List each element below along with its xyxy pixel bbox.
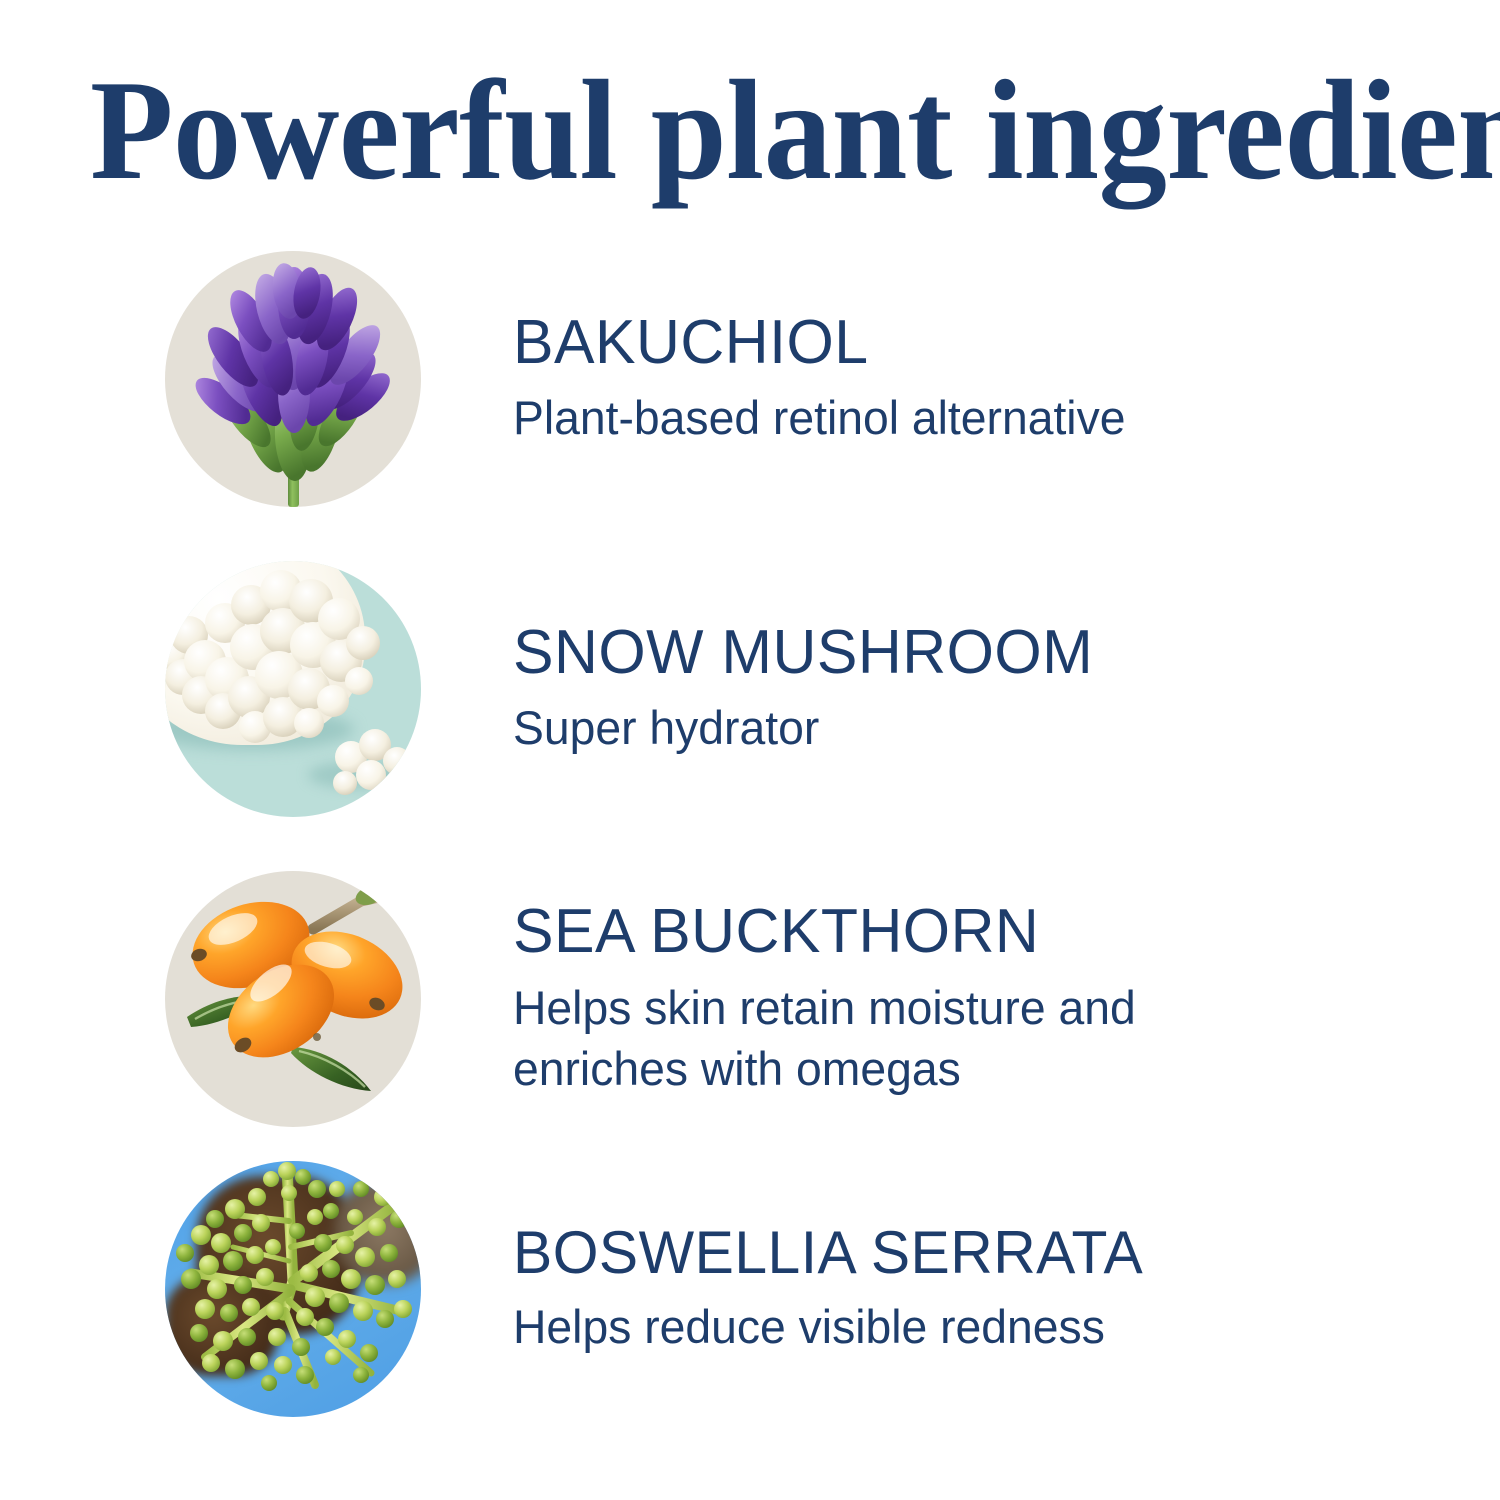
snow-mushroom-thumbnail [165, 561, 421, 817]
sea-buckthorn-text: SEA BUCKTHORN Helps skin retain moisture… [513, 899, 1500, 1099]
babchi-flower-image [165, 251, 421, 507]
ingredient-description: Plant-based retinol alternative [513, 387, 1291, 448]
mushroom-ruffles-svg [165, 561, 421, 817]
boswellia-buds-svg [165, 1161, 421, 1417]
ingredient-item-boswellia-serrata: BOSWELLIA SERRATA Helps reduce visible r… [0, 1158, 1500, 1420]
ingredient-item-snow-mushroom: SNOW MUSHROOM Super hydrator [0, 558, 1500, 820]
babchi-flower-svg [165, 251, 421, 507]
sea-buckthorn-image [165, 871, 421, 1127]
ingredient-name: SEA BUCKTHORN [513, 899, 1441, 965]
sea-buckthorn-svg [165, 871, 421, 1127]
ingredients-infographic: Powerful plant ingredients [0, 0, 1500, 1500]
bakuchiol-thumbnail [165, 251, 421, 507]
sea-buckthorn-thumbnail [165, 871, 421, 1127]
snow-mushroom-text: SNOW MUSHROOM Super hydrator [513, 620, 1500, 759]
ingredient-item-bakuchiol: BAKUCHIOL Plant-based retinol alternativ… [0, 248, 1500, 510]
ingredient-description: Super hydrator [513, 697, 1291, 758]
ingredient-name: SNOW MUSHROOM [513, 620, 1441, 686]
ingredient-description: Helps reduce visible redness [513, 1296, 1291, 1357]
ingredient-name: BOSWELLIA SERRATA [513, 1221, 1441, 1285]
ingredient-description: Helps skin retain moisture and enriches … [513, 977, 1291, 1099]
boswellia-text: BOSWELLIA SERRATA Helps reduce visible r… [513, 1221, 1500, 1358]
boswellia-image [165, 1161, 421, 1417]
ingredient-list: BAKUCHIOL Plant-based retinol alternativ… [0, 0, 1500, 1500]
ingredient-item-sea-buckthorn: SEA BUCKTHORN Helps skin retain moisture… [0, 868, 1500, 1130]
ingredient-name: BAKUCHIOL [513, 310, 1441, 376]
snow-mushroom-image [165, 561, 421, 817]
boswellia-thumbnail [165, 1161, 421, 1417]
bakuchiol-text: BAKUCHIOL Plant-based retinol alternativ… [513, 310, 1500, 449]
